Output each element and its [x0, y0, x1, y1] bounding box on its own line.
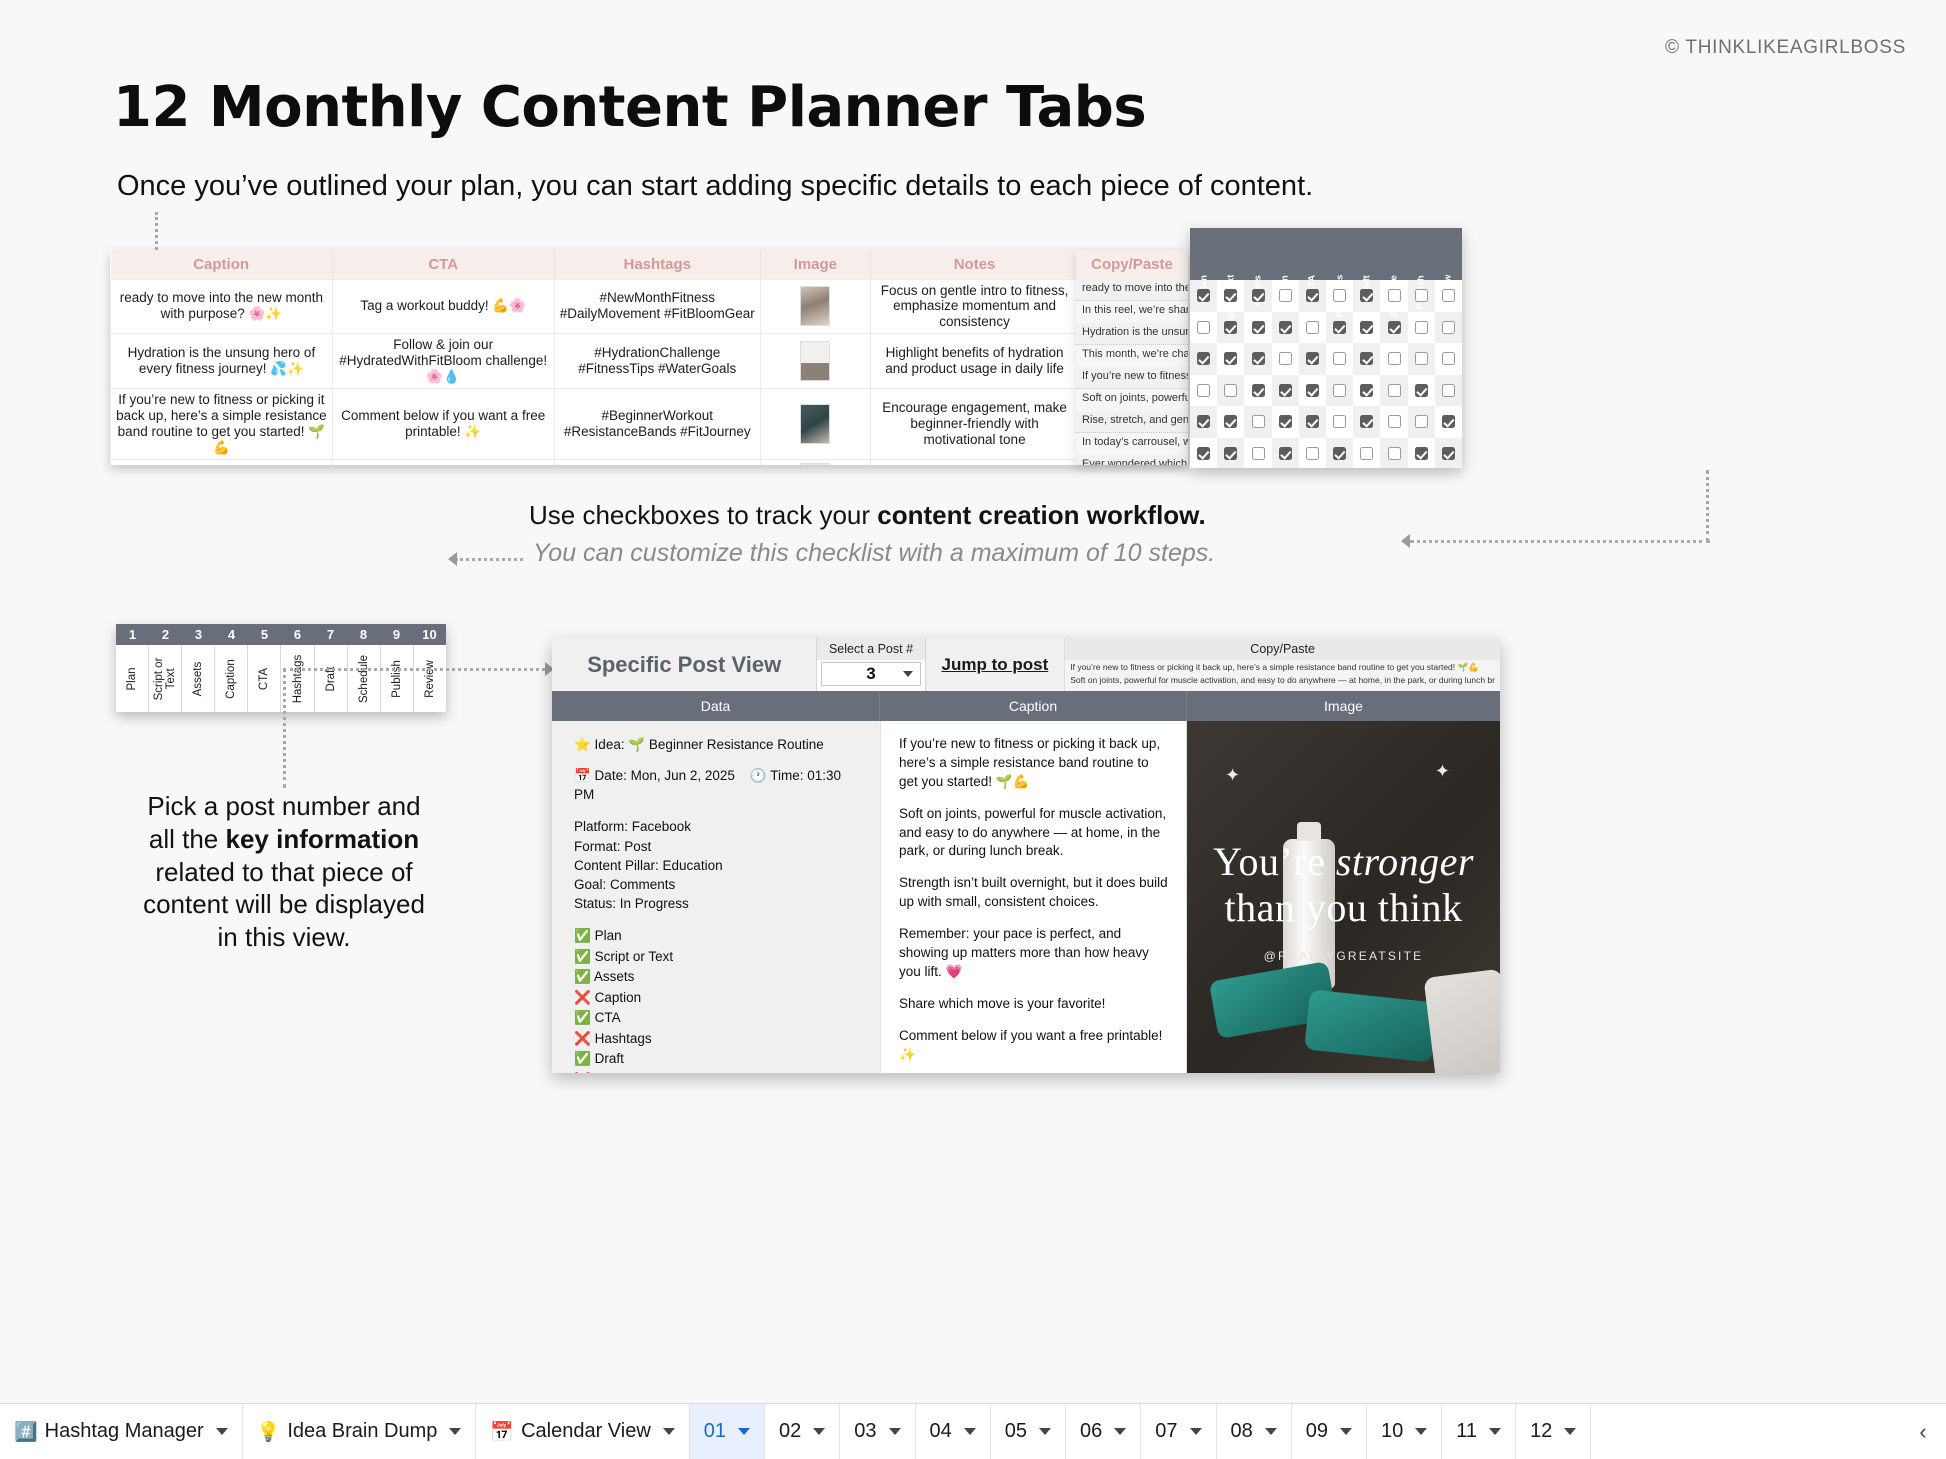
checkbox-cell[interactable] [1244, 438, 1271, 469]
checkbox-checked-icon[interactable] [1197, 447, 1210, 460]
sheet-tab-08[interactable]: 08 [1217, 1404, 1292, 1459]
post-number-text: 3 [866, 664, 875, 684]
checklist-col-header: Review [1435, 228, 1462, 280]
checkbox-cell[interactable] [1299, 375, 1326, 407]
checkbox-cell[interactable] [1380, 375, 1407, 407]
post-checklist-item: ❌ Schedule [574, 1070, 864, 1073]
checkbox-unchecked-icon[interactable] [1415, 352, 1428, 365]
tab-label: 11 [1456, 1420, 1477, 1443]
checkbox-cell[interactable] [1326, 343, 1353, 375]
checkbox-checked-icon[interactable] [1360, 352, 1373, 365]
post-view-data-column: ⭐ Idea: 🌱 Beginner Resistance Routine 📅 … [552, 721, 880, 1073]
tab-label: Hashtag Manager [45, 1420, 204, 1443]
chevron-down-icon[interactable] [1564, 1428, 1576, 1435]
post-checklist-item: ✅ Assets [574, 967, 864, 988]
checkbox-cell[interactable] [1353, 438, 1380, 469]
checkbox-cell[interactable] [1408, 375, 1435, 407]
post-content-pillar: Content Pillar: Education [574, 856, 864, 875]
checkbox-unchecked-icon[interactable] [1415, 415, 1428, 428]
checkbox-cell[interactable] [1190, 312, 1217, 344]
checkbox-unchecked-icon[interactable] [1442, 289, 1455, 302]
chevron-down-icon[interactable] [449, 1428, 461, 1435]
col-header-image: Image [760, 250, 870, 279]
checkbox-checked-icon[interactable] [1360, 384, 1373, 397]
checkbox-cell[interactable] [1408, 438, 1435, 469]
copy-paste-line[interactable]: Rise, stretch, and gently wak [1076, 411, 1188, 433]
callout-post-number: Pick a post number and all the key infor… [140, 790, 428, 954]
copy-paste-line[interactable]: Ever wondered which resista [1076, 455, 1188, 465]
post-checklist-label: Schedule [595, 1072, 651, 1073]
checkbox-checked-icon[interactable] [1415, 447, 1428, 460]
step-label-cell[interactable]: Publish [381, 645, 414, 712]
chevron-down-icon[interactable] [1039, 1428, 1051, 1435]
checkbox-cell[interactable] [1326, 375, 1353, 407]
tab-emoji-icon: 📅 [490, 1420, 514, 1444]
step-label-cell[interactable]: Review [414, 645, 446, 712]
checkbox-cell[interactable] [1408, 343, 1435, 375]
cell-notes[interactable]: Highlight benefits of hydration and prod… [870, 334, 1079, 389]
checkbox-cell[interactable] [1217, 343, 1244, 375]
cell-notes[interactable]: Easy daily routine, focus on self-care a… [870, 459, 1079, 465]
checkbox-cell[interactable] [1353, 343, 1380, 375]
decor-dumbbell [1304, 989, 1438, 1062]
checklist-grid[interactable]: PlanScript or TextAssetsCaptionCTAHashta… [1190, 228, 1462, 468]
cell-hashtags[interactable]: #BeginnerWorkout #ResistanceBands #FitJo… [554, 389, 760, 460]
checklist-row [1190, 375, 1462, 407]
post-view-col-image: Image [1187, 691, 1500, 721]
checkbox-unchecked-icon[interactable] [1333, 384, 1346, 397]
checkbox-cell[interactable] [1190, 343, 1217, 375]
checkbox-checked-icon[interactable] [1279, 321, 1292, 334]
tab-label: 08 [1231, 1420, 1253, 1443]
caption-paragraph: Soft on joints, powerful for muscle acti… [899, 805, 1168, 862]
sheet-tab-07[interactable]: 07 [1141, 1404, 1216, 1459]
copy-paste-line[interactable]: In today’s carrousel, we shar [1076, 433, 1188, 455]
post-number-value[interactable]: 3 [821, 662, 920, 686]
image-thumbnail [800, 286, 830, 326]
checkbox-cell[interactable] [1380, 343, 1407, 375]
checkbox-cell[interactable] [1217, 438, 1244, 469]
page-title: 12 Monthly Content Planner Tabs [113, 75, 1146, 140]
check-green-icon: ✅ [574, 928, 591, 943]
table-row[interactable]: ready to move into the new month with pu… [111, 279, 1187, 334]
callout-checkbox-text: Use checkboxes to track your [529, 500, 877, 530]
sheet-tab-10[interactable]: 10 [1367, 1404, 1442, 1459]
post-checklist-label: Hashtags [595, 1031, 652, 1046]
cell-hashtags[interactable]: #NewMonthFitness #DailyMovement #FitBloo… [554, 279, 760, 334]
post-view-copy-line-1: If you’re new to fitness or picking it b… [1065, 660, 1500, 673]
step-label-cell[interactable]: Plan [116, 645, 149, 712]
checkbox-checked-icon[interactable] [1306, 384, 1319, 397]
step-label-cell[interactable]: Script orText [149, 645, 182, 712]
checkbox-unchecked-icon[interactable] [1415, 321, 1428, 334]
cell-image[interactable] [760, 459, 870, 465]
planner-table: Caption CTA Hashtags Image Notes Link re… [110, 250, 1187, 465]
checkbox-cell[interactable] [1299, 343, 1326, 375]
post-platform: Platform: Facebook [574, 817, 864, 836]
cell-hashtags[interactable]: #HydrationChallenge #FitnessTips #WaterG… [554, 334, 760, 389]
post-view-copy-line-2: Soft on joints, powerful for muscle acti… [1065, 673, 1500, 685]
checklist-col-header: Publish [1408, 228, 1435, 280]
checkbox-unchecked-icon[interactable] [1388, 384, 1401, 397]
caption-paragraph: Strength isn’t built overnight, but it d… [899, 874, 1168, 912]
image-quote-line2: than you think [1187, 885, 1500, 931]
checklist-col-header: Assets [1244, 228, 1271, 280]
step-label: Publish [391, 660, 403, 698]
sheet-tab-hashtag-manager[interactable]: #️⃣Hashtag Manager [0, 1404, 243, 1459]
tab-label: 07 [1155, 1420, 1177, 1443]
sheet-tab-02[interactable]: 02 [765, 1404, 840, 1459]
tab-prev-arrow[interactable]: ‹ [1900, 1404, 1946, 1459]
checkbox-cell[interactable] [1272, 406, 1299, 438]
copy-paste-line[interactable]: Hydration is the unsung hero [1076, 323, 1188, 345]
step-label-cell[interactable]: Draft [315, 645, 348, 712]
chevron-down-icon[interactable] [889, 1428, 901, 1435]
checklist-col-header: Plan [1190, 228, 1217, 280]
checkbox-checked-icon[interactable] [1224, 447, 1237, 460]
checkbox-unchecked-icon[interactable] [1306, 321, 1319, 334]
copy-paste-line[interactable]: ready to move into the new [1076, 279, 1188, 301]
tab-label: 05 [1005, 1420, 1027, 1443]
post-status: Status: In Progress [574, 894, 864, 913]
checkbox-cell[interactable] [1217, 375, 1244, 407]
cell-hashtags[interactable]: #MobilityFlow #MorningRoutine #GentleMov… [554, 459, 760, 465]
step-number: 2 [149, 624, 182, 645]
check-green-icon: ✅ [574, 969, 591, 984]
post-checklist-label: Caption [595, 990, 642, 1005]
copy-paste-line[interactable]: If you’re new to fitness or pic [1076, 367, 1188, 389]
tab-label: 12 [1530, 1420, 1552, 1443]
post-checklist-label: Assets [594, 969, 635, 984]
connector-postview-v [283, 668, 286, 788]
chevron-down-icon[interactable] [1265, 1428, 1277, 1435]
checkbox-checked-icon[interactable] [1306, 289, 1319, 302]
checkbox-cell[interactable] [1190, 375, 1217, 407]
step-label: Script orText [153, 657, 177, 700]
copy-paste-header: Copy/Paste [1076, 250, 1188, 279]
checkbox-cell[interactable] [1435, 312, 1462, 344]
checkbox-cell[interactable] [1408, 406, 1435, 438]
checkbox-cell[interactable] [1299, 312, 1326, 344]
checkbox-cell[interactable] [1272, 312, 1299, 344]
table-row[interactable]: If you’re new to fitness or picking it b… [111, 389, 1187, 460]
cell-caption[interactable]: ready to move into the new month with pu… [111, 279, 333, 334]
chevron-down-icon[interactable] [738, 1428, 750, 1435]
cell-image[interactable] [760, 334, 870, 389]
checkbox-unchecked-icon[interactable] [1442, 384, 1455, 397]
post-checklist-item: ❌ Hashtags [574, 1029, 864, 1050]
post-checklist-item: ✅ Script or Text [574, 947, 864, 968]
checkbox-cell[interactable] [1435, 343, 1462, 375]
checkbox-cell[interactable] [1380, 406, 1407, 438]
chevron-down-icon[interactable] [1340, 1428, 1352, 1435]
cross-red-icon: ❌ [574, 1072, 591, 1073]
connector-steps-h [455, 558, 523, 561]
sheet-tab-idea-brain-dump[interactable]: 💡Idea Brain Dump [243, 1404, 477, 1459]
step-label-cell[interactable]: Caption [215, 645, 248, 712]
caption-paragraph: Comment below if you want a free printab… [899, 1027, 1168, 1065]
step-label: Hashtags [291, 654, 303, 703]
content-planner-sheet[interactable]: Caption CTA Hashtags Image Notes Link re… [110, 250, 1187, 465]
checkbox-cell[interactable] [1272, 343, 1299, 375]
chevron-down-icon[interactable] [1114, 1428, 1126, 1435]
chevron-down-icon[interactable] [1190, 1428, 1202, 1435]
checkbox-cell[interactable] [1380, 438, 1407, 469]
check-green-icon: ✅ [574, 1010, 591, 1025]
tab-label: 01 [704, 1420, 726, 1443]
step-label-cell[interactable]: CTA [248, 645, 281, 712]
tab-label: 02 [779, 1420, 801, 1443]
checkbox-unchecked-icon[interactable] [1388, 415, 1401, 428]
sheet-tab-11[interactable]: 11 [1442, 1404, 1516, 1459]
checklist-row [1190, 438, 1462, 469]
post-view-caption-column: If you’re new to fitness or picking it b… [880, 721, 1187, 1073]
step-label: Caption [225, 659, 237, 699]
cell-cta[interactable]: Comment below if you want a free printab… [332, 389, 554, 460]
step-label: Review [424, 660, 436, 698]
checkbox-checked-icon[interactable] [1224, 352, 1237, 365]
checkbox-checked-icon[interactable] [1252, 289, 1265, 302]
post-view-col-caption: Caption [880, 691, 1187, 721]
checkbox-unchecked-icon[interactable] [1388, 447, 1401, 460]
cell-cta[interactable]: Save & stretch tomorrow! 🌿🧘 [332, 459, 554, 465]
connector-grid-arrow [1401, 534, 1410, 548]
cross-red-icon: ❌ [574, 1031, 591, 1046]
checkbox-checked-icon[interactable] [1224, 415, 1237, 428]
step-number: 7 [314, 624, 347, 645]
tab-label: Calendar View [521, 1420, 651, 1443]
cell-notes[interactable]: Focus on gentle intro to fitness, emphas… [870, 279, 1079, 334]
checkbox-cell[interactable] [1326, 406, 1353, 438]
checkbox-checked-icon[interactable] [1279, 384, 1292, 397]
post-checklist-label: Script or Text [595, 949, 674, 964]
tab-label: 09 [1306, 1420, 1328, 1443]
checkbox-checked-icon[interactable] [1306, 415, 1319, 428]
checkbox-cell[interactable] [1190, 406, 1217, 438]
chevron-down-icon[interactable] [903, 671, 913, 677]
copy-paste-line[interactable]: In this reel, we’re sharing our [1076, 301, 1188, 323]
checkbox-unchecked-icon[interactable] [1279, 352, 1292, 365]
cell-caption[interactable]: Rise, stretch, and gently wake your body… [111, 459, 333, 465]
post-idea-row: ⭐ Idea: 🌱 Beginner Resistance Routine [574, 735, 864, 754]
checkbox-cell[interactable] [1408, 312, 1435, 344]
checkbox-checked-icon[interactable] [1224, 321, 1237, 334]
checklist-row [1190, 406, 1462, 438]
checkbox-unchecked-icon[interactable] [1252, 447, 1265, 460]
checkbox-unchecked-icon[interactable] [1415, 289, 1428, 302]
checkbox-cell[interactable] [1244, 343, 1271, 375]
connector-grid-h [1410, 540, 1710, 543]
step-label: CTA [258, 667, 270, 689]
cell-cta[interactable]: Tag a workout buddy! 💪🌸 [332, 279, 554, 334]
checkbox-checked-icon[interactable] [1252, 384, 1265, 397]
col-header-hashtags: Hashtags [554, 250, 760, 279]
checkbox-checked-icon[interactable] [1360, 415, 1373, 428]
checkbox-checked-icon[interactable] [1252, 352, 1265, 365]
jump-to-post-link[interactable]: Jump to post [942, 655, 1049, 675]
cell-caption[interactable]: Hydration is the unsung hero of every fi… [111, 334, 333, 389]
checkbox-cell[interactable] [1217, 406, 1244, 438]
checkbox-checked-icon[interactable] [1333, 447, 1346, 460]
checkbox-unchecked-icon[interactable] [1224, 384, 1237, 397]
callout-left-text-2: related to that piece of content will be… [143, 857, 425, 953]
tab-label: 04 [930, 1420, 952, 1443]
checkbox-unchecked-icon[interactable] [1252, 415, 1265, 428]
checkbox-checked-icon[interactable] [1360, 289, 1373, 302]
checkbox-cell[interactable] [1326, 438, 1353, 469]
checkbox-unchecked-icon[interactable] [1279, 289, 1292, 302]
chevron-down-icon[interactable] [964, 1428, 976, 1435]
checkbox-cell[interactable] [1244, 375, 1271, 407]
cell-notes[interactable]: Encourage engagement, make beginner-frie… [870, 389, 1079, 460]
chevron-down-icon[interactable] [663, 1428, 675, 1435]
checkbox-checked-icon[interactable] [1197, 415, 1210, 428]
specific-post-view[interactable]: Specific Post View Select a Post # 3 Jum… [552, 638, 1500, 1073]
post-view-toolbar: Specific Post View Select a Post # 3 Jum… [552, 638, 1500, 691]
image-quote: You’re stronger than you think [1187, 839, 1500, 931]
post-view-copy-paste[interactable]: Copy/Paste If you’re new to fitness or p… [1064, 638, 1500, 691]
checkbox-unchecked-icon[interactable] [1197, 321, 1210, 334]
checkbox-unchecked-icon[interactable] [1197, 384, 1210, 397]
sheet-tab-01[interactable]: 01 [690, 1404, 765, 1459]
checkbox-checked-icon[interactable] [1306, 352, 1319, 365]
post-view-body: ⭐ Idea: 🌱 Beginner Resistance Routine 📅 … [552, 721, 1500, 1073]
checkbox-cell[interactable] [1272, 375, 1299, 407]
checkbox-checked-icon[interactable] [1279, 415, 1292, 428]
post-checklist-item: ✅ Draft [574, 1049, 864, 1070]
checkbox-checked-icon[interactable] [1388, 321, 1401, 334]
checkbox-cell[interactable] [1244, 312, 1271, 344]
chevron-down-icon[interactable] [1415, 1428, 1427, 1435]
copy-paste-line[interactable]: This month, we’re challenging [1076, 345, 1188, 367]
sheet-tab-04[interactable]: 04 [916, 1404, 991, 1459]
checkbox-cell[interactable] [1435, 438, 1462, 469]
image-quote-em: stronger [1336, 839, 1474, 884]
post-checklist-label: CTA [595, 1010, 621, 1025]
jump-to-post-cell[interactable]: Jump to post [926, 638, 1065, 691]
copy-paste-line[interactable]: Soft on joints, powerful for m [1076, 389, 1188, 411]
chevron-down-icon[interactable] [813, 1428, 825, 1435]
checkbox-cell[interactable] [1299, 438, 1326, 469]
post-number-selector[interactable]: Select a Post # 3 [816, 638, 925, 691]
col-header-cta: CTA [332, 250, 554, 279]
checkbox-unchecked-icon[interactable] [1333, 415, 1346, 428]
post-checklist: ✅ Plan✅ Script or Text✅ Assets❌ Caption✅… [574, 926, 864, 1073]
step-label-cell[interactable]: Assets [182, 645, 215, 712]
checklist-col-header: Schedule [1380, 228, 1407, 280]
table-row[interactable]: Hydration is the unsung hero of every fi… [111, 334, 1187, 389]
checkbox-cell[interactable] [1299, 406, 1326, 438]
checkbox-unchecked-icon[interactable] [1442, 321, 1455, 334]
checkbox-checked-icon[interactable] [1360, 321, 1373, 334]
checkbox-unchecked-icon[interactable] [1442, 352, 1455, 365]
checkbox-cell[interactable] [1353, 375, 1380, 407]
cell-cta[interactable]: Follow & join our #HydratedWithFitBloom … [332, 334, 554, 389]
checkbox-cell[interactable] [1272, 438, 1299, 469]
checkbox-cell[interactable] [1435, 375, 1462, 407]
checkbox-checked-icon[interactable] [1442, 415, 1455, 428]
connector-postview-h [283, 668, 545, 671]
sheet-tab-bar[interactable]: #️⃣Hashtag Manager💡Idea Brain Dump📅Calen… [0, 1403, 1946, 1459]
checkbox-unchecked-icon[interactable] [1388, 289, 1401, 302]
checkbox-cell[interactable] [1190, 438, 1217, 469]
check-green-icon: ✅ [574, 1051, 591, 1066]
sheet-tab-06[interactable]: 06 [1066, 1404, 1141, 1459]
checkbox-checked-icon[interactable] [1415, 384, 1428, 397]
checkbox-checked-icon[interactable] [1224, 289, 1237, 302]
step-label: Assets [192, 661, 204, 696]
sheet-tab-03[interactable]: 03 [840, 1404, 915, 1459]
checkbox-cell[interactable] [1353, 312, 1380, 344]
cell-image[interactable] [760, 279, 870, 334]
sheet-tab-12[interactable]: 12 [1516, 1404, 1591, 1459]
step-number: 1 [116, 624, 149, 645]
image-handle: @REALLYGREATSITE [1187, 949, 1500, 963]
post-number-label: Select a Post # [817, 638, 924, 660]
callout-checkbox-sub: You can customize this checklist with a … [533, 539, 1363, 568]
checkbox-checked-icon[interactable] [1333, 321, 1346, 334]
checkbox-unchecked-icon[interactable] [1306, 447, 1319, 460]
sheet-tab-calendar-view[interactable]: 📅Calendar View [476, 1404, 689, 1459]
page-subtitle: Once you’ve outlined your plan, you can … [117, 170, 1313, 203]
step-label-cell[interactable]: Schedule [348, 645, 381, 712]
checkbox-unchecked-icon[interactable] [1360, 447, 1373, 460]
post-view-title: Specific Post View [552, 638, 816, 691]
copyright-label: © THINKLIKEAGIRLBOSS [1665, 37, 1906, 59]
checkbox-unchecked-icon[interactable] [1333, 352, 1346, 365]
copy-paste-panel[interactable]: Copy/Paste ready to move into the newIn … [1076, 250, 1188, 465]
decor-phone [1423, 969, 1500, 1073]
checkbox-checked-icon[interactable] [1197, 289, 1210, 302]
post-view-column-headers: Data Caption Image [552, 691, 1500, 721]
tab-label: Idea Brain Dump [287, 1420, 437, 1443]
table-header-row: Caption CTA Hashtags Image Notes Link [111, 250, 1187, 279]
chevron-down-icon[interactable] [216, 1428, 228, 1435]
step-number: 6 [281, 624, 314, 645]
caption-paragraph: If you’re new to fitness or picking it b… [899, 735, 1168, 792]
post-goal: Goal: Comments [574, 875, 864, 894]
post-view-col-data: Data [552, 691, 880, 721]
step-label: Plan [126, 667, 138, 690]
callout-checkbox-bold: content creation workflow. [877, 500, 1205, 530]
sheet-tab-05[interactable]: 05 [991, 1404, 1066, 1459]
cell-caption[interactable]: If you’re new to fitness or picking it b… [111, 389, 333, 460]
checkbox-cell[interactable] [1435, 406, 1462, 438]
connector-grid-v [1706, 470, 1709, 542]
post-checklist-label: Draft [595, 1051, 624, 1066]
step-number: 5 [248, 624, 281, 645]
check-green-icon: ✅ [574, 949, 591, 964]
checkbox-cell[interactable] [1244, 406, 1271, 438]
post-format: Format: Post [574, 837, 864, 856]
checkbox-checked-icon[interactable] [1197, 352, 1210, 365]
post-view-copy-header: Copy/Paste [1065, 638, 1500, 660]
sparkle-icon: ✦ [1225, 765, 1240, 786]
checkbox-unchecked-icon[interactable] [1333, 289, 1346, 302]
checkbox-checked-icon[interactable] [1442, 447, 1455, 460]
checkbox-checked-icon[interactable] [1279, 447, 1292, 460]
cell-image[interactable] [760, 389, 870, 460]
sheet-tab-09[interactable]: 09 [1292, 1404, 1367, 1459]
step-numbers-row: 12345678910 [116, 624, 446, 645]
step-label-cell[interactable]: Hashtags [281, 645, 314, 712]
checkbox-unchecked-icon[interactable] [1388, 352, 1401, 365]
chevron-down-icon[interactable] [1489, 1428, 1501, 1435]
checkbox-cell[interactable] [1353, 406, 1380, 438]
checkbox-checked-icon[interactable] [1252, 321, 1265, 334]
table-row[interactable]: Rise, stretch, and gently wake your body… [111, 459, 1187, 465]
connector-steps-arrow [448, 552, 457, 566]
